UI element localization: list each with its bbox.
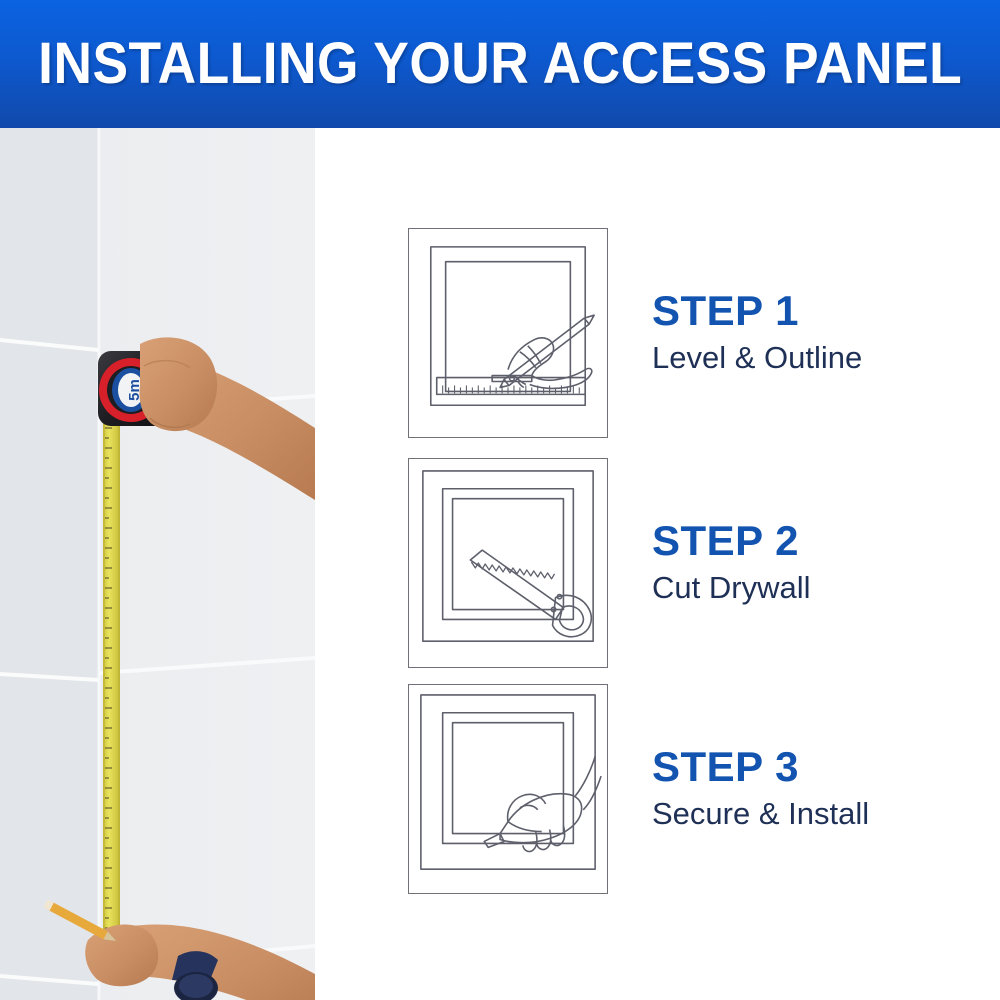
- step-2-title: STEP 2: [652, 520, 810, 563]
- photo-illustration: 5m: [0, 128, 315, 1000]
- page-title: INSTALLING YOUR ACCESS PANEL: [38, 35, 962, 93]
- step-3-title: STEP 3: [652, 746, 869, 789]
- step-2-text: STEP 2 Cut Drywall: [652, 520, 810, 606]
- caulk-gun-icon: [409, 685, 607, 893]
- installation-photo: 5m: [0, 128, 315, 1000]
- step-2-label: Cut Drywall: [652, 569, 810, 606]
- step-1-text: STEP 1 Level & Outline: [652, 290, 862, 376]
- step-item-1: STEP 1 Level & Outline: [315, 228, 1000, 438]
- step-1-label: Level & Outline: [652, 339, 862, 376]
- step-3-text: STEP 3 Secure & Install: [652, 746, 869, 832]
- step-3-figure: [408, 684, 608, 894]
- header-banner: INSTALLING YOUR ACCESS PANEL: [0, 0, 1000, 128]
- step-item-2: STEP 2 Cut Drywall: [315, 458, 1000, 668]
- step-2-figure: [408, 458, 608, 668]
- step-3-label: Secure & Install: [652, 795, 869, 832]
- steps-container: STEP 1 Level & Outline: [315, 128, 1000, 1000]
- hand-saw-icon: [409, 459, 607, 667]
- wrist-watch: [172, 951, 218, 1000]
- step-1-title: STEP 1: [652, 290, 862, 333]
- infographic-page: INSTALLING YOUR ACCESS PANEL: [0, 0, 1000, 1000]
- step-item-3: STEP 3 Secure & Install: [315, 684, 1000, 894]
- step-1-figure: [408, 228, 608, 438]
- pencil-and-level-icon: [409, 229, 607, 437]
